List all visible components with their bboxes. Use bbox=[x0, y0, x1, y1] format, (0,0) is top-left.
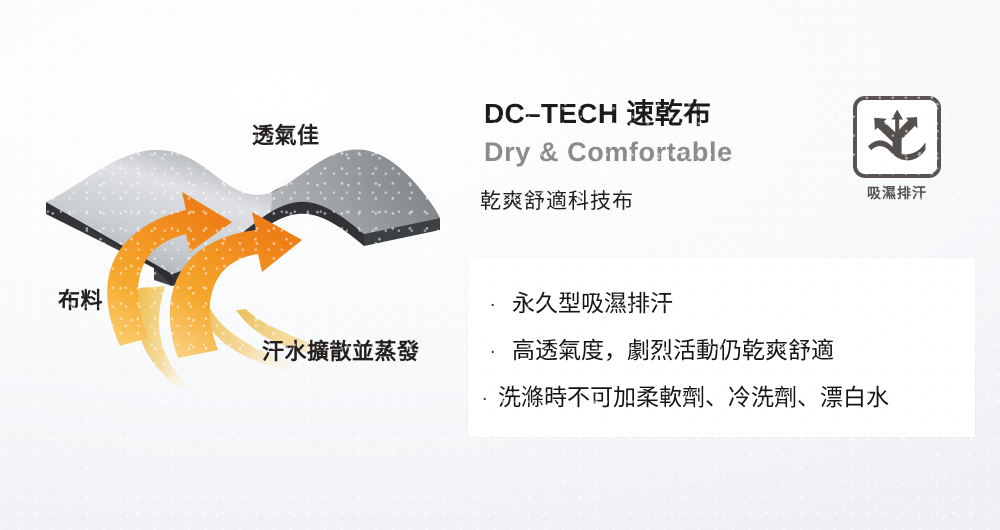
list-item: · 永久型吸濕排汗 bbox=[490, 284, 965, 318]
moisture-wicking-icon bbox=[864, 106, 930, 169]
page-background: 透氣佳 布料 汗水擴散並蒸發 DC–TECH 速乾布 Dry & Comfort… bbox=[0, 0, 1000, 530]
product-subtitle-en: Dry & Comfortable bbox=[484, 137, 733, 168]
label-sweat-evaporation: 汗水擴散並蒸發 bbox=[262, 334, 420, 366]
list-item-label: 洗滌時不可加柔軟劑、冷洗劑、漂白水 bbox=[498, 378, 889, 412]
list-item-label: 永久型吸濕排汗 bbox=[512, 284, 673, 318]
list-item: · 洗滌時不可加柔軟劑、冷洗劑、漂白水 bbox=[482, 378, 965, 412]
features-card: · 永久型吸濕排汗 · 高透氣度，劇烈活動仍乾爽舒適 · 洗滌時不可加柔軟劑、冷… bbox=[468, 258, 975, 437]
list-item: · 高透氣度，劇烈活動仍乾爽舒適 bbox=[490, 331, 965, 365]
label-breathability: 透氣佳 bbox=[252, 118, 320, 150]
product-title: DC–TECH 速乾布 bbox=[484, 92, 711, 132]
product-subtitle-zh: 乾爽舒適科技布 bbox=[480, 185, 634, 215]
label-fabric: 布料 bbox=[58, 283, 103, 315]
bullet-dot: · bbox=[490, 298, 512, 315]
bullet-dot: · bbox=[490, 345, 512, 362]
moisture-wicking-badge: 吸濕排汗 bbox=[853, 96, 953, 212]
bullet-dot: · bbox=[482, 392, 498, 409]
badge-frame bbox=[853, 96, 941, 178]
list-item-label: 高透氣度，劇烈活動仍乾爽舒適 bbox=[512, 331, 834, 365]
product-info-panel: DC–TECH 速乾布 Dry & Comfortable 乾爽舒適科技布 bbox=[468, 84, 978, 454]
features-list: · 永久型吸濕排汗 · 高透氣度，劇烈活動仍乾爽舒適 · 洗滌時不可加柔軟劑、冷… bbox=[490, 280, 965, 412]
badge-label: 吸濕排汗 bbox=[853, 183, 941, 203]
